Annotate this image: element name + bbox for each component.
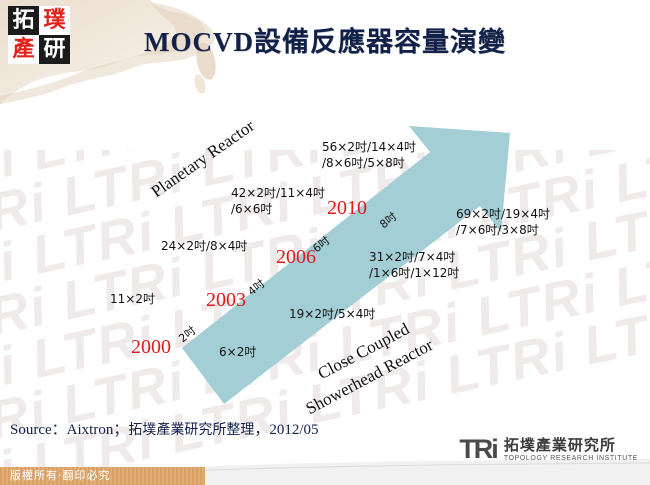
wafer-size-8in: 8吋 [376,208,400,232]
capacity-showerhead-2010: 31×2吋/7×4吋 /1×6吋/1×12吋 [369,249,459,281]
institute-name-cn: 拓墣產業研究所 [504,437,638,454]
capacity-planetary-2010: 56×2吋/14×4吋 /8×6吋/5×8吋 [322,139,416,171]
year-2006: 2006 [276,246,316,269]
slide-canvas: 拓 璞 產 研 MOCVD設備反應器容量演變 TRi LTRi LTRi LTR… [0,0,650,485]
source-organization: 拓墣產業研究所整理 [128,422,254,438]
capacity-text: /8×6吋/5×8吋 [322,156,405,170]
wafer-size-4in: 4吋 [244,275,268,299]
capacity-planetary-2000: 11×2吋 [110,291,155,307]
capacity-text: 56×2吋/14×4吋 [322,140,416,154]
capacity-text: 11×2吋 [110,292,155,306]
capacity-planetary-2012: 69×2吋/19×4吋 /7×6吋/3×8吋 [456,206,550,238]
logo-char-tuo: 拓 [8,6,39,35]
capacity-planetary-2006: 42×2吋/11×4吋 /6×6吋 [231,185,325,217]
logo-char-yan: 研 [39,35,70,64]
capacity-text: /6×6吋 [231,202,272,216]
capacity-text: 31×2吋/7×4吋 [369,250,455,264]
capacity-text: 42×2吋/11×4吋 [231,186,325,200]
logo-char-chan: 產 [8,35,39,64]
source-prefix: Source：Aixtron； [10,422,128,438]
source-date: ，2012/05 [254,422,318,438]
wafer-size-2in: 2吋 [175,322,199,346]
capacity-text: /7×6吋/3×8吋 [456,223,539,237]
capacity-text: 24×2吋/8×4吋 [161,239,247,253]
year-2000: 2000 [131,336,171,359]
capacity-planetary-2003: 24×2吋/8×4吋 [161,238,247,254]
tri-wordmark: TRi [459,436,497,463]
institute-name-en: TOPOLOGY RESEARCH INSTITUTE [504,454,638,463]
year-2003: 2003 [206,289,246,312]
tri-institute-names: 拓墣產業研究所 TOPOLOGY RESEARCH INSTITUTE [504,437,638,463]
source-line: Source：Aixtron；拓墣產業研究所整理，2012/05 [10,418,319,439]
copyright-text: 版權所有‧翻印必究 [10,467,111,483]
capacity-showerhead-2000: 6×2吋 [219,344,256,360]
capacity-showerhead-2006: 19×2吋/5×4吋 [289,306,375,322]
logo-char-pu: 璞 [39,6,70,35]
tri-institute-logo: TRi 拓墣產業研究所 TOPOLOGY RESEARCH INSTITUTE [459,436,638,463]
capacity-text: 69×2吋/19×4吋 [456,207,550,221]
watermark-row: TRi LTRi LTRi LTRi LTRi LTRi LTRi LTRi [0,150,650,305]
capacity-text: 6×2吋 [219,345,256,359]
capacity-text: 19×2吋/5×4吋 [289,307,375,321]
year-2010: 2010 [327,197,367,220]
page-title: MOCVD設備反應器容量演變 [0,20,650,59]
copyright-band: 版權所有‧翻印必究 [0,467,650,485]
watermark-row: LTRi LTRi LTRi LTRi LTRi LTRi LTRi LTRi [0,150,650,357]
capacity-text: /1×6吋/1×12吋 [369,266,459,280]
tri-corner-logo: 拓 璞 產 研 [8,6,70,64]
